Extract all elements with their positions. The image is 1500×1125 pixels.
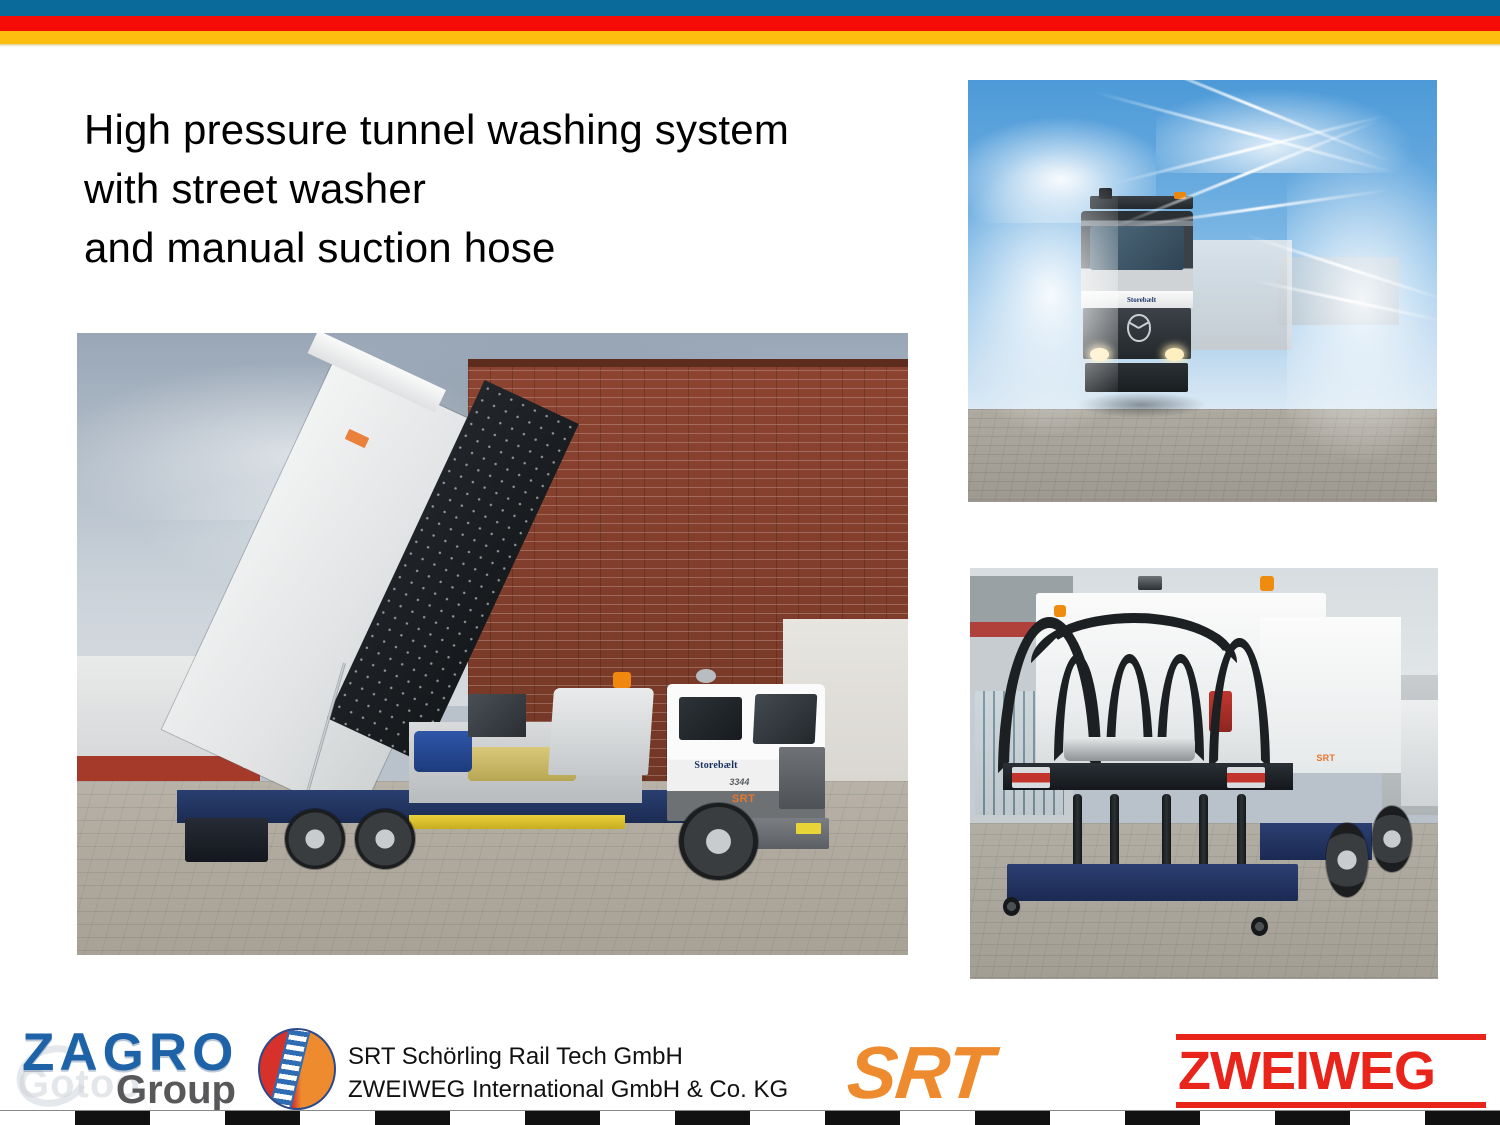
water-mist xyxy=(968,156,1118,435)
zagro-group-text: Group xyxy=(116,1068,236,1113)
cab-srt-logo: SRT xyxy=(732,793,774,805)
photo-tipping-container-truck: Storebælt 3344 SRT xyxy=(77,333,908,955)
zagro-logo: Gotoo ZAGRO Group xyxy=(22,1022,252,1110)
cab-model-number: 3344 xyxy=(729,777,779,787)
title-line-1: High pressure tunnel washing system xyxy=(84,100,964,159)
work-lamp xyxy=(1138,576,1161,590)
truck-body-side xyxy=(1260,617,1400,773)
hopper-chute xyxy=(468,694,526,738)
cab-side-window xyxy=(679,697,741,741)
orange-beacon xyxy=(613,672,631,688)
band-stripe-shadow xyxy=(0,44,1500,47)
zweiweg-bar-top xyxy=(1176,1034,1486,1040)
truck-wheel xyxy=(285,809,345,869)
zweiweg-logo: ZWEIWEG xyxy=(1176,1034,1486,1108)
cab-brand-text: Storebælt xyxy=(694,756,769,775)
mercedes-star-icon xyxy=(1127,314,1150,341)
title-line-2: with street washer xyxy=(84,159,964,218)
srt-wordmark-logo: SRT xyxy=(844,1030,997,1115)
cab-windshield xyxy=(753,694,818,744)
zweiweg-wordmark: ZWEIWEG xyxy=(1178,1041,1435,1101)
castor-wheel xyxy=(1003,897,1020,916)
truck-body xyxy=(1188,240,1291,350)
orange-beacon xyxy=(1054,605,1066,617)
body-srt-logo: SRT xyxy=(1316,753,1344,763)
blue-chassis-frame xyxy=(1007,864,1297,901)
truck-cab xyxy=(1401,700,1438,807)
castor-wheel xyxy=(1251,917,1268,936)
photo-rear-suction-manifold: SRT xyxy=(970,568,1438,979)
company-line-2: ZWEIWEG International GmbH & Co. KG xyxy=(348,1073,788,1106)
truck-wheel xyxy=(355,809,415,869)
orange-beacon xyxy=(1260,576,1274,591)
company-names: SRT Schörling Rail Tech GmbH ZWEIWEG Int… xyxy=(348,1040,788,1106)
tail-light xyxy=(1227,767,1264,788)
roof-fixture xyxy=(696,669,716,683)
zweiweg-bar-bottom xyxy=(1176,1102,1486,1108)
licence-plate xyxy=(796,823,821,834)
brick-wall-coping xyxy=(468,359,908,366)
band-stripe-yellow xyxy=(0,31,1500,44)
water-mist xyxy=(1287,139,1437,460)
truck-wheel xyxy=(679,803,757,881)
truck-wheel xyxy=(1326,823,1368,897)
silver-cylinder xyxy=(1064,737,1195,762)
srt-circular-emblem-icon xyxy=(258,1028,336,1110)
band-stripe-blue xyxy=(0,0,1500,16)
tail-light xyxy=(1012,767,1049,788)
slide-footer: Gotoo ZAGRO Group SRT Schörling Rail Tec… xyxy=(0,1008,1500,1125)
company-line-1: SRT Schörling Rail Tech GmbH xyxy=(348,1040,788,1073)
rear-axle-block xyxy=(185,818,268,862)
front-grille xyxy=(779,747,825,809)
slide-title: High pressure tunnel washing system with… xyxy=(84,100,964,277)
blue-motor-unit xyxy=(414,731,472,771)
band-stripe-red xyxy=(0,16,1500,31)
cab-brand-text: Storebælt xyxy=(1113,296,1169,304)
suction-arm-housing xyxy=(548,688,654,775)
photo-truck-spraying-water: Storebælt xyxy=(968,80,1437,502)
top-color-band xyxy=(0,0,1500,46)
rail-track-motif xyxy=(269,1028,312,1110)
title-line-3: and manual suction hose xyxy=(84,218,964,277)
yellow-hydraulic-bar xyxy=(409,815,625,829)
checkered-bottom-band xyxy=(0,1110,1500,1125)
